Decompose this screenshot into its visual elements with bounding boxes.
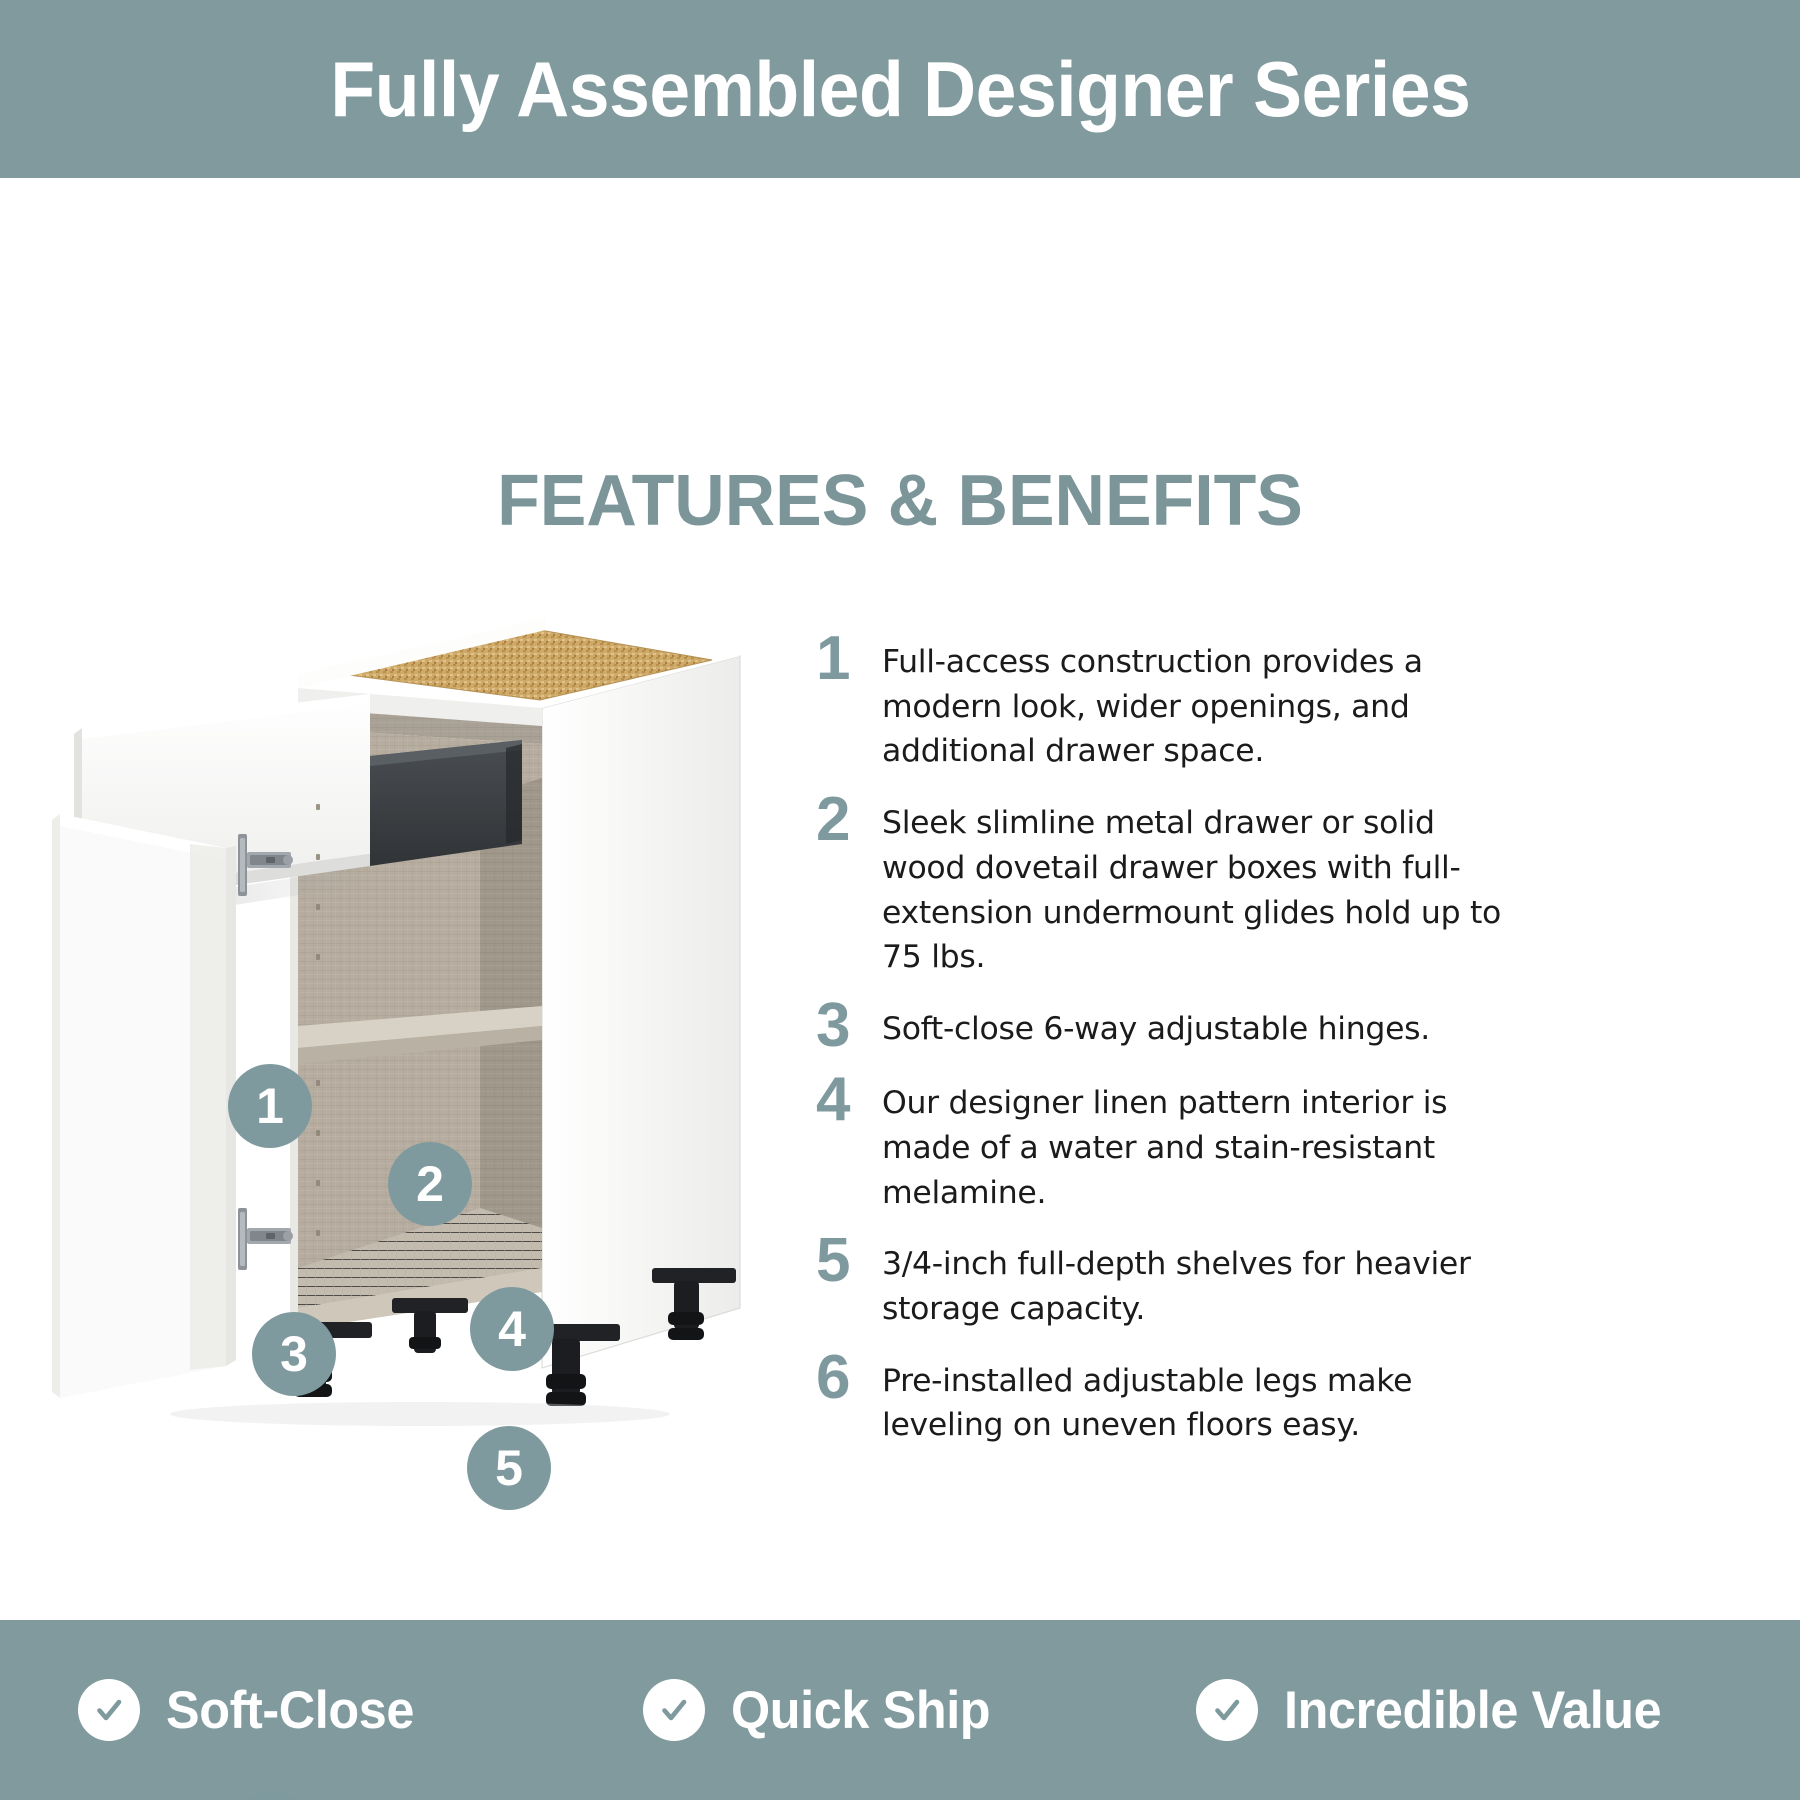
callout-label: 1 xyxy=(256,1081,284,1131)
cabinet-diagram xyxy=(40,608,800,1478)
feature-item-4: 4 Our designer linen pattern interior is… xyxy=(810,1071,1510,1215)
header-bar: Fully Assembled Designer Series xyxy=(0,0,1800,178)
main-content: FEATURES & BENEFITS xyxy=(0,178,1800,1620)
feature-text: Soft-close 6-way adjustable hinges. xyxy=(882,997,1510,1052)
footer-bar: Soft-Close Quick Ship Incredible Value xyxy=(0,1620,1800,1800)
callout-label: 5 xyxy=(495,1443,523,1493)
feature-item-3: 3 Soft-close 6-way adjustable hinges. xyxy=(810,997,1510,1054)
callout-label: 4 xyxy=(498,1304,526,1354)
callout-label: 2 xyxy=(416,1159,444,1209)
feature-item-2: 2 Sleek slimline metal drawer or solid w… xyxy=(810,791,1510,980)
page-title: Fully Assembled Designer Series xyxy=(330,44,1470,135)
footer-badge-label: Quick Ship xyxy=(731,1680,990,1741)
callout-label: 3 xyxy=(280,1329,308,1379)
feature-text: 3/4-inch full-depth shelves for heavier … xyxy=(882,1232,1510,1331)
features-list: 1 Full-access construction provides a mo… xyxy=(810,630,1510,1465)
section-heading: FEATURES & BENEFITS xyxy=(27,460,1773,542)
check-icon xyxy=(78,1679,140,1741)
feature-text: Sleek slimline metal drawer or solid woo… xyxy=(882,791,1510,980)
footer-badge-label: Soft-Close xyxy=(166,1680,414,1741)
feature-number: 6 xyxy=(810,1349,882,1406)
feature-number: 2 xyxy=(810,791,882,848)
callout-badge-4[interactable]: 4 xyxy=(470,1287,554,1371)
callout-badge-1[interactable]: 1 xyxy=(228,1064,312,1148)
check-icon xyxy=(1196,1679,1258,1741)
footer-badge-incredible-value: Incredible Value xyxy=(1196,1679,1681,1741)
footer-badge-quick-ship: Quick Ship xyxy=(643,1679,1004,1741)
feature-number: 4 xyxy=(810,1071,882,1128)
feature-item-1: 1 Full-access construction provides a mo… xyxy=(810,630,1510,774)
footer-badge-label: Incredible Value xyxy=(1284,1680,1661,1741)
feature-text: Full-access construction provides a mode… xyxy=(882,630,1510,774)
product-illustration: 1 2 3 4 5 6 xyxy=(40,608,800,1478)
feature-number: 1 xyxy=(810,630,882,687)
feature-number: 5 xyxy=(810,1232,882,1289)
feature-text: Pre-installed adjustable legs make level… xyxy=(882,1349,1510,1448)
feature-text: Our designer linen pattern interior is m… xyxy=(882,1071,1510,1215)
feature-item-5: 5 3/4-inch full-depth shelves for heavie… xyxy=(810,1232,1510,1331)
infographic-page: Fully Assembled Designer Series FEATURES… xyxy=(0,0,1800,1800)
callout-badge-5[interactable]: 5 xyxy=(467,1426,551,1510)
footer-badge-soft-close: Soft-Close xyxy=(78,1679,427,1741)
feature-item-6: 6 Pre-installed adjustable legs make lev… xyxy=(810,1349,1510,1448)
callout-badge-2[interactable]: 2 xyxy=(388,1142,472,1226)
feature-number: 3 xyxy=(810,997,882,1054)
check-icon xyxy=(643,1679,705,1741)
callout-badge-3[interactable]: 3 xyxy=(252,1312,336,1396)
